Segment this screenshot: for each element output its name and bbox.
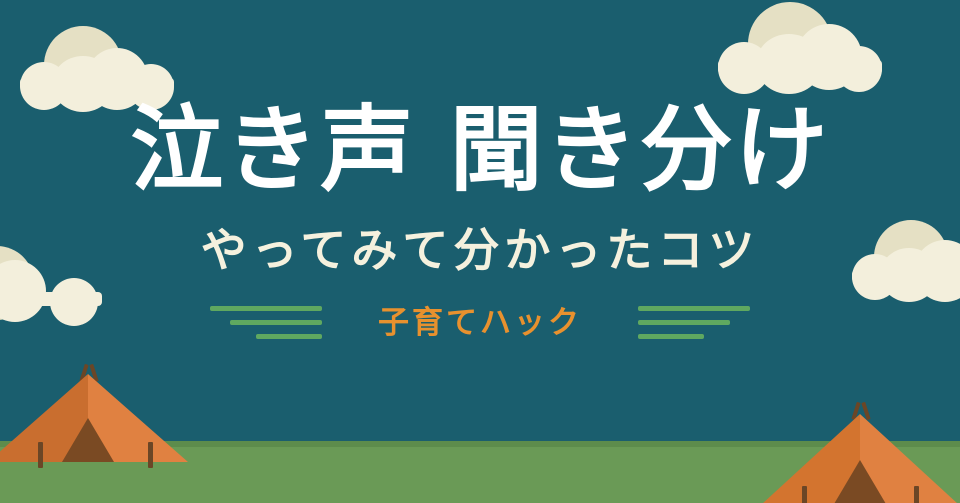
banner-canvas: 泣き声 聞き分け やってみて分かったコツ 子育てハック (0, 0, 960, 503)
deco-line (638, 334, 704, 339)
decoration-lines-right (638, 300, 760, 346)
tagline-text: 子育てハック (322, 301, 638, 345)
text-block: 泣き声 聞き分け やってみて分かったコツ 子育てハック (0, 0, 960, 503)
decoration-lines-left (200, 300, 322, 346)
page-title: 泣き声 聞き分け (0, 95, 960, 205)
page-subtitle: やってみて分かったコツ (0, 222, 960, 278)
deco-line (230, 320, 322, 325)
deco-line (638, 320, 730, 325)
tagline-row: 子育てハック (0, 297, 960, 349)
deco-line (256, 334, 322, 339)
deco-line (210, 306, 322, 311)
deco-line (638, 306, 750, 311)
